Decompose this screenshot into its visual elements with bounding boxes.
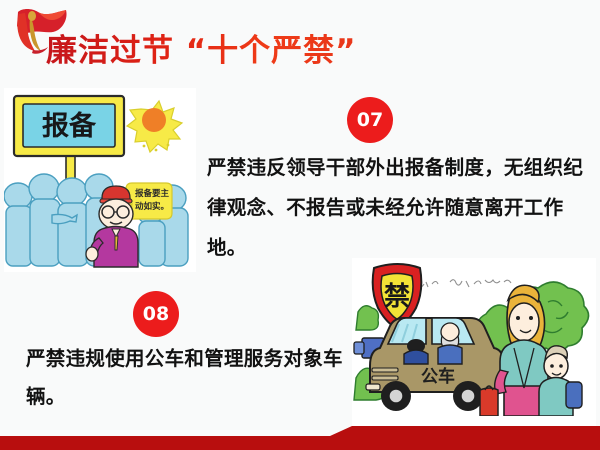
page-title: 廉洁过节 “十个严禁” <box>46 33 357 69</box>
baobei-sign: 报备 <box>14 96 124 156</box>
speech-bubble-line2: 动如实。 <box>135 201 169 212</box>
baobei-sign-text: 报备 <box>42 111 97 142</box>
item-text-07: 严禁违反领导干部外出报备制度，无组织纪律观念、不报告或未经允许随意离开工作地。 <box>207 148 587 268</box>
baobei-reporting-illustration: 报备 报备要主 动如实。 <box>4 88 196 272</box>
red-bag <box>480 386 498 416</box>
poster-canvas: 廉洁过节 “十个严禁” 报备 <box>0 0 600 450</box>
poster-header: 廉洁过节 “十个严禁” <box>0 0 600 86</box>
item-badge-08: 08 <box>133 291 179 337</box>
car-label-text: 公车 <box>421 366 455 387</box>
speech-bubble-line1: 报备要主 <box>135 188 170 199</box>
footer-decoration-band <box>0 426 600 450</box>
prohibition-sign-text: 禁 <box>384 282 410 312</box>
official-vehicle-illustration: 禁 公车 <box>352 258 596 430</box>
item-badge-07: 07 <box>347 97 393 143</box>
item-text-08: 严禁违规使用公车和管理服务对象车辆。 <box>26 340 356 416</box>
